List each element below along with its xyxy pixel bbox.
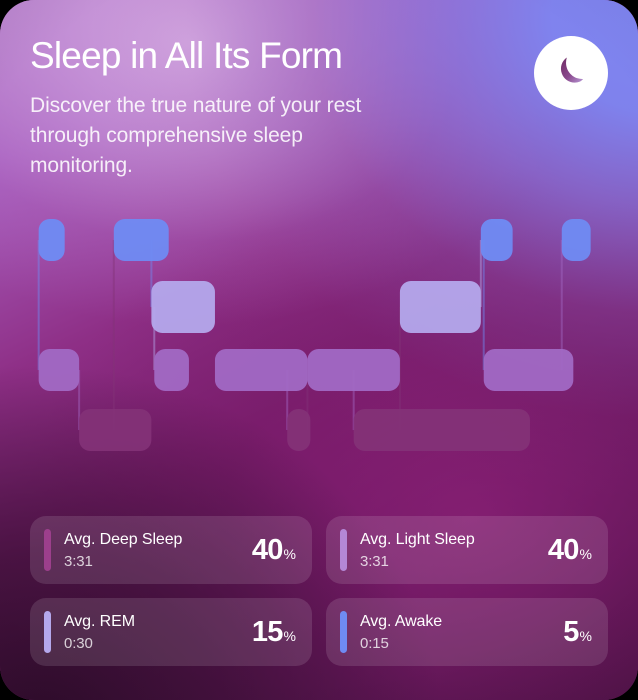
hypnogram-segment-deep-9	[354, 409, 530, 451]
hypnogram-segment-awake-11	[481, 219, 513, 261]
stat-unit-rem: %	[284, 628, 296, 644]
hypnogram-connector-11	[483, 240, 485, 370]
stat-label-deep-sleep: Avg. Deep Sleep	[64, 531, 182, 548]
hypnogram-segment-awake-0	[39, 219, 65, 261]
stat-text-light-sleep: Avg. Light Sleep 3:31	[360, 531, 548, 570]
stat-text-awake: Avg. Awake 0:15	[360, 613, 563, 652]
stat-number-deep-sleep: 40	[252, 534, 283, 567]
hypnogram-segment-deep-2	[79, 409, 151, 451]
stat-label-awake: Avg. Awake	[360, 613, 442, 630]
stat-unit-awake: %	[580, 628, 592, 644]
hypnogram-segment-deep-7	[287, 409, 310, 451]
hypnogram-segment-light-8	[307, 349, 399, 391]
stat-time-rem: 0:30	[64, 635, 252, 652]
card-content: Sleep in All Its Form Discover the true …	[0, 0, 638, 700]
stat-accent-bar-light-sleep	[340, 529, 347, 571]
hypnogram-segment-rem-10	[400, 281, 481, 333]
hypnogram-connector-0	[38, 240, 40, 370]
sleep-summary-card: Sleep in All Its Form Discover the true …	[0, 0, 638, 700]
hypnogram-segment-awake-3	[114, 219, 169, 261]
sleep-stats-grid: Avg. Deep Sleep 3:31 40 % Avg. Light Sle…	[30, 516, 608, 666]
stat-label-light-sleep: Avg. Light Sleep	[360, 531, 475, 548]
stat-value-light-sleep: 40 %	[548, 534, 592, 567]
stat-time-deep-sleep: 3:31	[64, 553, 252, 570]
stat-accent-bar-rem	[44, 611, 51, 653]
hypnogram-segment-light-12	[484, 349, 574, 391]
hypnogram-segment-rem-4	[151, 281, 215, 333]
hypnogram-segment-light-1	[39, 349, 79, 391]
hypnogram-svg	[30, 213, 608, 443]
stat-number-light-sleep: 40	[548, 534, 579, 567]
stat-number-awake: 5	[563, 616, 578, 649]
stat-value-awake: 5 %	[563, 616, 592, 649]
crescent-moon-icon	[551, 53, 591, 93]
page-title: Sleep in All Its Form	[30, 36, 512, 75]
stat-label-rem: Avg. REM	[64, 613, 135, 630]
card-header: Sleep in All Its Form Discover the true …	[30, 36, 608, 181]
stat-text-rem: Avg. REM 0:30	[64, 613, 252, 652]
stat-card-rem[interactable]: Avg. REM 0:30 15 %	[30, 598, 312, 666]
stat-text-deep-sleep: Avg. Deep Sleep 3:31	[64, 531, 252, 570]
hypnogram-connector-2	[113, 240, 115, 430]
stat-time-awake: 0:15	[360, 635, 563, 652]
stat-number-rem: 15	[252, 616, 283, 649]
stat-accent-bar-deep-sleep	[44, 529, 51, 571]
stat-time-light-sleep: 3:31	[360, 553, 548, 570]
sleep-hypnogram-chart	[30, 213, 608, 443]
stat-card-light-sleep[interactable]: Avg. Light Sleep 3:31 40 %	[326, 516, 608, 584]
stat-value-deep-sleep: 40 %	[252, 534, 296, 567]
page-subtitle: Discover the true nature of your rest th…	[30, 91, 410, 180]
hypnogram-segment-light-6	[215, 349, 307, 391]
stat-card-deep-sleep[interactable]: Avg. Deep Sleep 3:31 40 %	[30, 516, 312, 584]
stat-value-rem: 15 %	[252, 616, 296, 649]
hypnogram-segment-awake-13	[562, 219, 591, 261]
hypnogram-segment-light-5	[154, 349, 189, 391]
stat-accent-bar-awake	[340, 611, 347, 653]
moon-badge	[534, 36, 608, 110]
stat-card-awake[interactable]: Avg. Awake 0:15 5 %	[326, 598, 608, 666]
stat-unit-deep-sleep: %	[284, 546, 296, 562]
stat-unit-light-sleep: %	[580, 546, 592, 562]
